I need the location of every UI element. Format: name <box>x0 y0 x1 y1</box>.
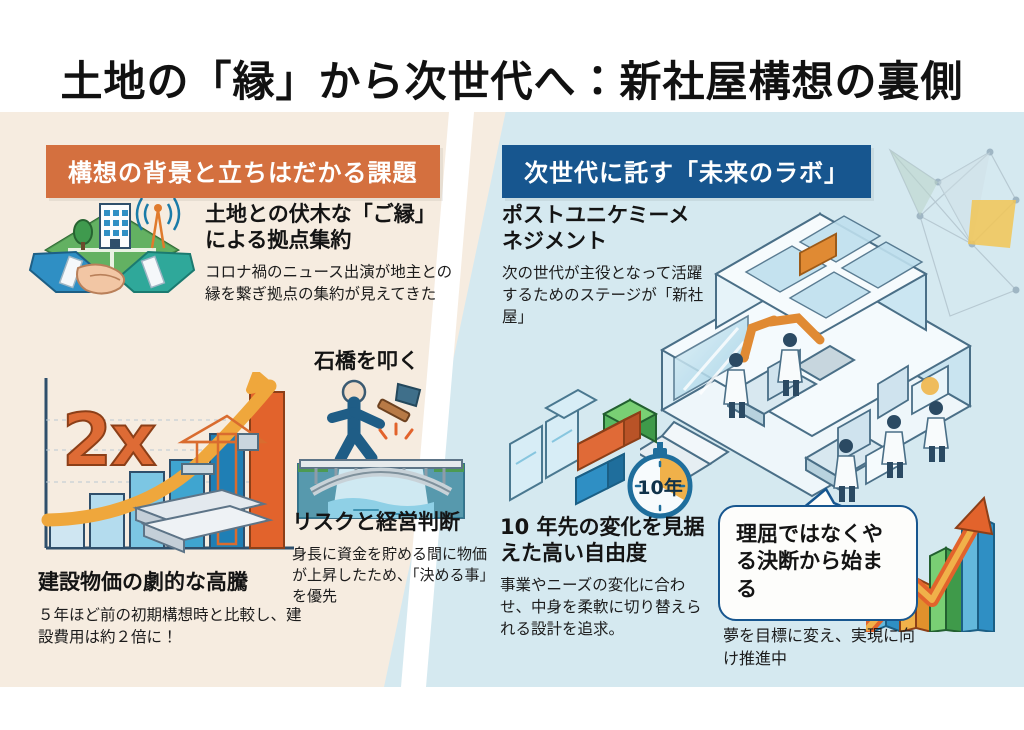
left-item-risk: リスクと経営判断 身長に資金を貯める間に物価が上昇したため、「決める事」を優先 <box>292 510 487 608</box>
right-item-post-heading: ポストユニケミーメネジメント <box>502 203 707 254</box>
section-header-left: 構想の背景と立ちはだかる課題 <box>46 145 440 198</box>
left-item-renkei: 土地との伏木な「ご縁」による拠点集約 コロナ禍のニュース出演が地主との縁を繋ぎ拠… <box>205 202 455 305</box>
ishibashi-label: 石橋を叩く <box>314 345 419 375</box>
left-item-risk-body: 身長に資金を貯める間に物価が上昇したため、「決める事」を優先 <box>292 544 487 608</box>
modular-blocks-icon: 10年 <box>500 378 700 532</box>
handshake-land-icon <box>28 192 196 304</box>
left-item-risk-heading: リスクと経営判断 <box>292 510 487 536</box>
right-item-yume: 夢を目標に変え、実現に向け推進中 <box>723 625 928 670</box>
section-header-right: 次世代に託す「未来のラボ」 <box>502 145 871 198</box>
decision-speech-bubble-text: 理屈ではなくやる決断から始まる <box>736 521 900 603</box>
left-item-bukka-heading: 建設物価の劇的な高騰 <box>38 570 303 596</box>
right-item-tennen: 10 年先の変化を見据えた高い自由度 事業やニーズの変化に合わせ、中身を柔軟に切… <box>500 515 715 640</box>
right-item-post: ポストユニケミーメネジメント 次の世代が主役となって活躍するためのステージが「新… <box>502 203 707 328</box>
right-item-tennen-body: 事業やニーズの変化に合わせ、中身を柔軟に切り替えられる設計を追求。 <box>500 574 715 640</box>
right-item-post-body: 次の世代が主役となって活躍するためのステージが「新社屋」 <box>502 262 707 328</box>
page-title: 土地の「縁」から次世代へ：新社屋構想の裏側 <box>0 48 1024 109</box>
two-x-badge: 2x <box>62 398 155 482</box>
left-item-renkei-body: コロナ禍のニュース出演が地主との縁を繋ぎ拠点の集約が見えてきた <box>205 261 455 305</box>
person-hammer-bridge-icon <box>292 368 470 524</box>
left-item-bukka: 建設物価の劇的な高騰 ５年ほど前の初期構想時と比較し、建設費用は約２倍に！ <box>38 570 303 648</box>
left-item-renkei-heading: 土地との伏木な「ご縁」による拠点集約 <box>205 202 455 253</box>
left-item-bukka-body: ５年ほど前の初期構想時と比較し、建設費用は約２倍に！ <box>38 604 303 648</box>
right-item-tennen-heading: 10 年先の変化を見据えた高い自由度 <box>500 515 715 566</box>
right-item-yume-body: 夢を目標に変え、実現に向け推進中 <box>723 625 928 670</box>
decision-speech-bubble: 理屈ではなくやる決断から始まる <box>718 505 918 621</box>
stopwatch-label: 10年 <box>637 476 682 499</box>
